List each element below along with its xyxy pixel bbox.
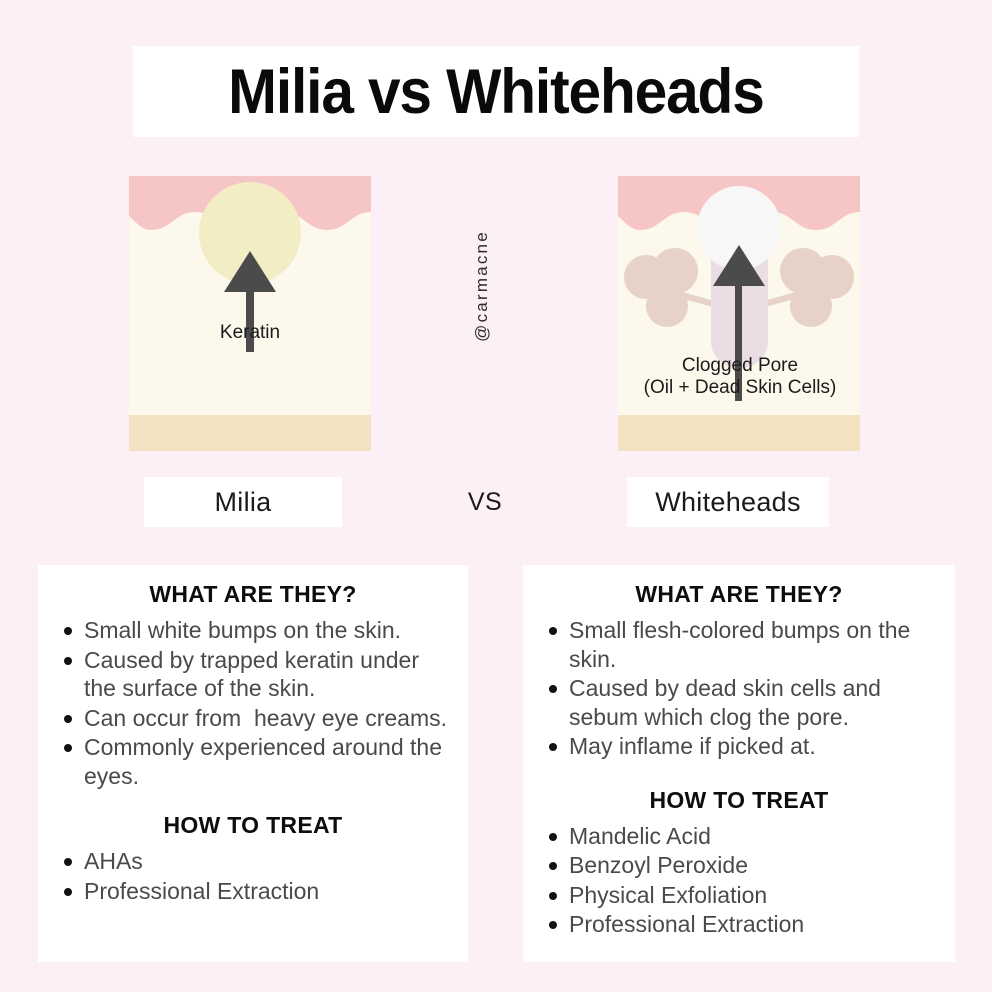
milia-treat-list: AHAs Professional Extraction — [52, 847, 454, 905]
list-item: Benzoyl Peroxide — [537, 851, 941, 880]
chip-milia: Milia — [144, 477, 342, 527]
keratin-arrow-label: Keratin — [129, 322, 371, 344]
list-item: Caused by dead skin cells and sebum whic… — [537, 674, 941, 731]
chip-milia-label: Milia — [214, 487, 271, 518]
watermark-handle: @carmacne — [471, 206, 493, 366]
list-item: Small flesh-colored bumps on the skin. — [537, 616, 941, 673]
page-title: Milia vs Whiteheads — [228, 56, 764, 128]
milia-what-list: Small white bumps on the skin. Caused by… — [52, 616, 454, 790]
list-item: May inflame if picked at. — [537, 732, 941, 761]
milia-skin-svg — [129, 176, 371, 451]
hypodermis-layer — [129, 415, 371, 451]
clogged-pore-label-line1: Clogged Pore — [590, 355, 890, 377]
clogged-pore-label-line2: (Oil + Dead Skin Cells) — [590, 377, 890, 399]
whiteheads-treat-heading: HOW TO TREAT — [537, 787, 941, 814]
watermark-text: @carmacne — [472, 230, 492, 342]
list-item: AHAs — [52, 847, 454, 876]
list-item: Physical Exfoliation — [537, 881, 941, 910]
hypodermis-layer — [618, 415, 860, 451]
milia-diagram — [129, 176, 371, 451]
vs-separator: VS — [455, 488, 515, 517]
chip-whiteheads: Whiteheads — [627, 477, 829, 527]
whiteheads-what-list: Small flesh-colored bumps on the skin. C… — [537, 616, 941, 761]
chip-whiteheads-label: Whiteheads — [655, 487, 801, 518]
list-item: Professional Extraction — [52, 877, 454, 906]
list-item: Mandelic Acid — [537, 822, 941, 851]
list-item: Caused by trapped keratin under the surf… — [52, 646, 454, 703]
list-item: Small white bumps on the skin. — [52, 616, 454, 645]
whitehead-skin-svg — [618, 176, 860, 451]
milia-treat-heading: HOW TO TREAT — [52, 812, 454, 839]
milia-info-panel: WHAT ARE THEY? Small white bumps on the … — [38, 565, 468, 962]
clogged-pore-arrow-label: Clogged Pore (Oil + Dead Skin Cells) — [590, 355, 890, 399]
title-banner: Milia vs Whiteheads — [133, 46, 859, 137]
infographic-canvas: Milia vs Whiteheads Keratin @carmacne — [0, 0, 992, 992]
whitehead-diagram — [618, 176, 860, 451]
list-item: Commonly experienced around the eyes. — [52, 733, 454, 790]
whiteheads-treat-list: Mandelic Acid Benzoyl Peroxide Physical … — [537, 822, 941, 939]
milia-what-heading: WHAT ARE THEY? — [52, 581, 454, 608]
whiteheads-info-panel: WHAT ARE THEY? Small flesh-colored bumps… — [523, 565, 955, 962]
whiteheads-what-heading: WHAT ARE THEY? — [537, 581, 941, 608]
list-item: Professional Extraction — [537, 910, 941, 939]
list-item: Can occur from heavy eye creams. — [52, 704, 454, 733]
